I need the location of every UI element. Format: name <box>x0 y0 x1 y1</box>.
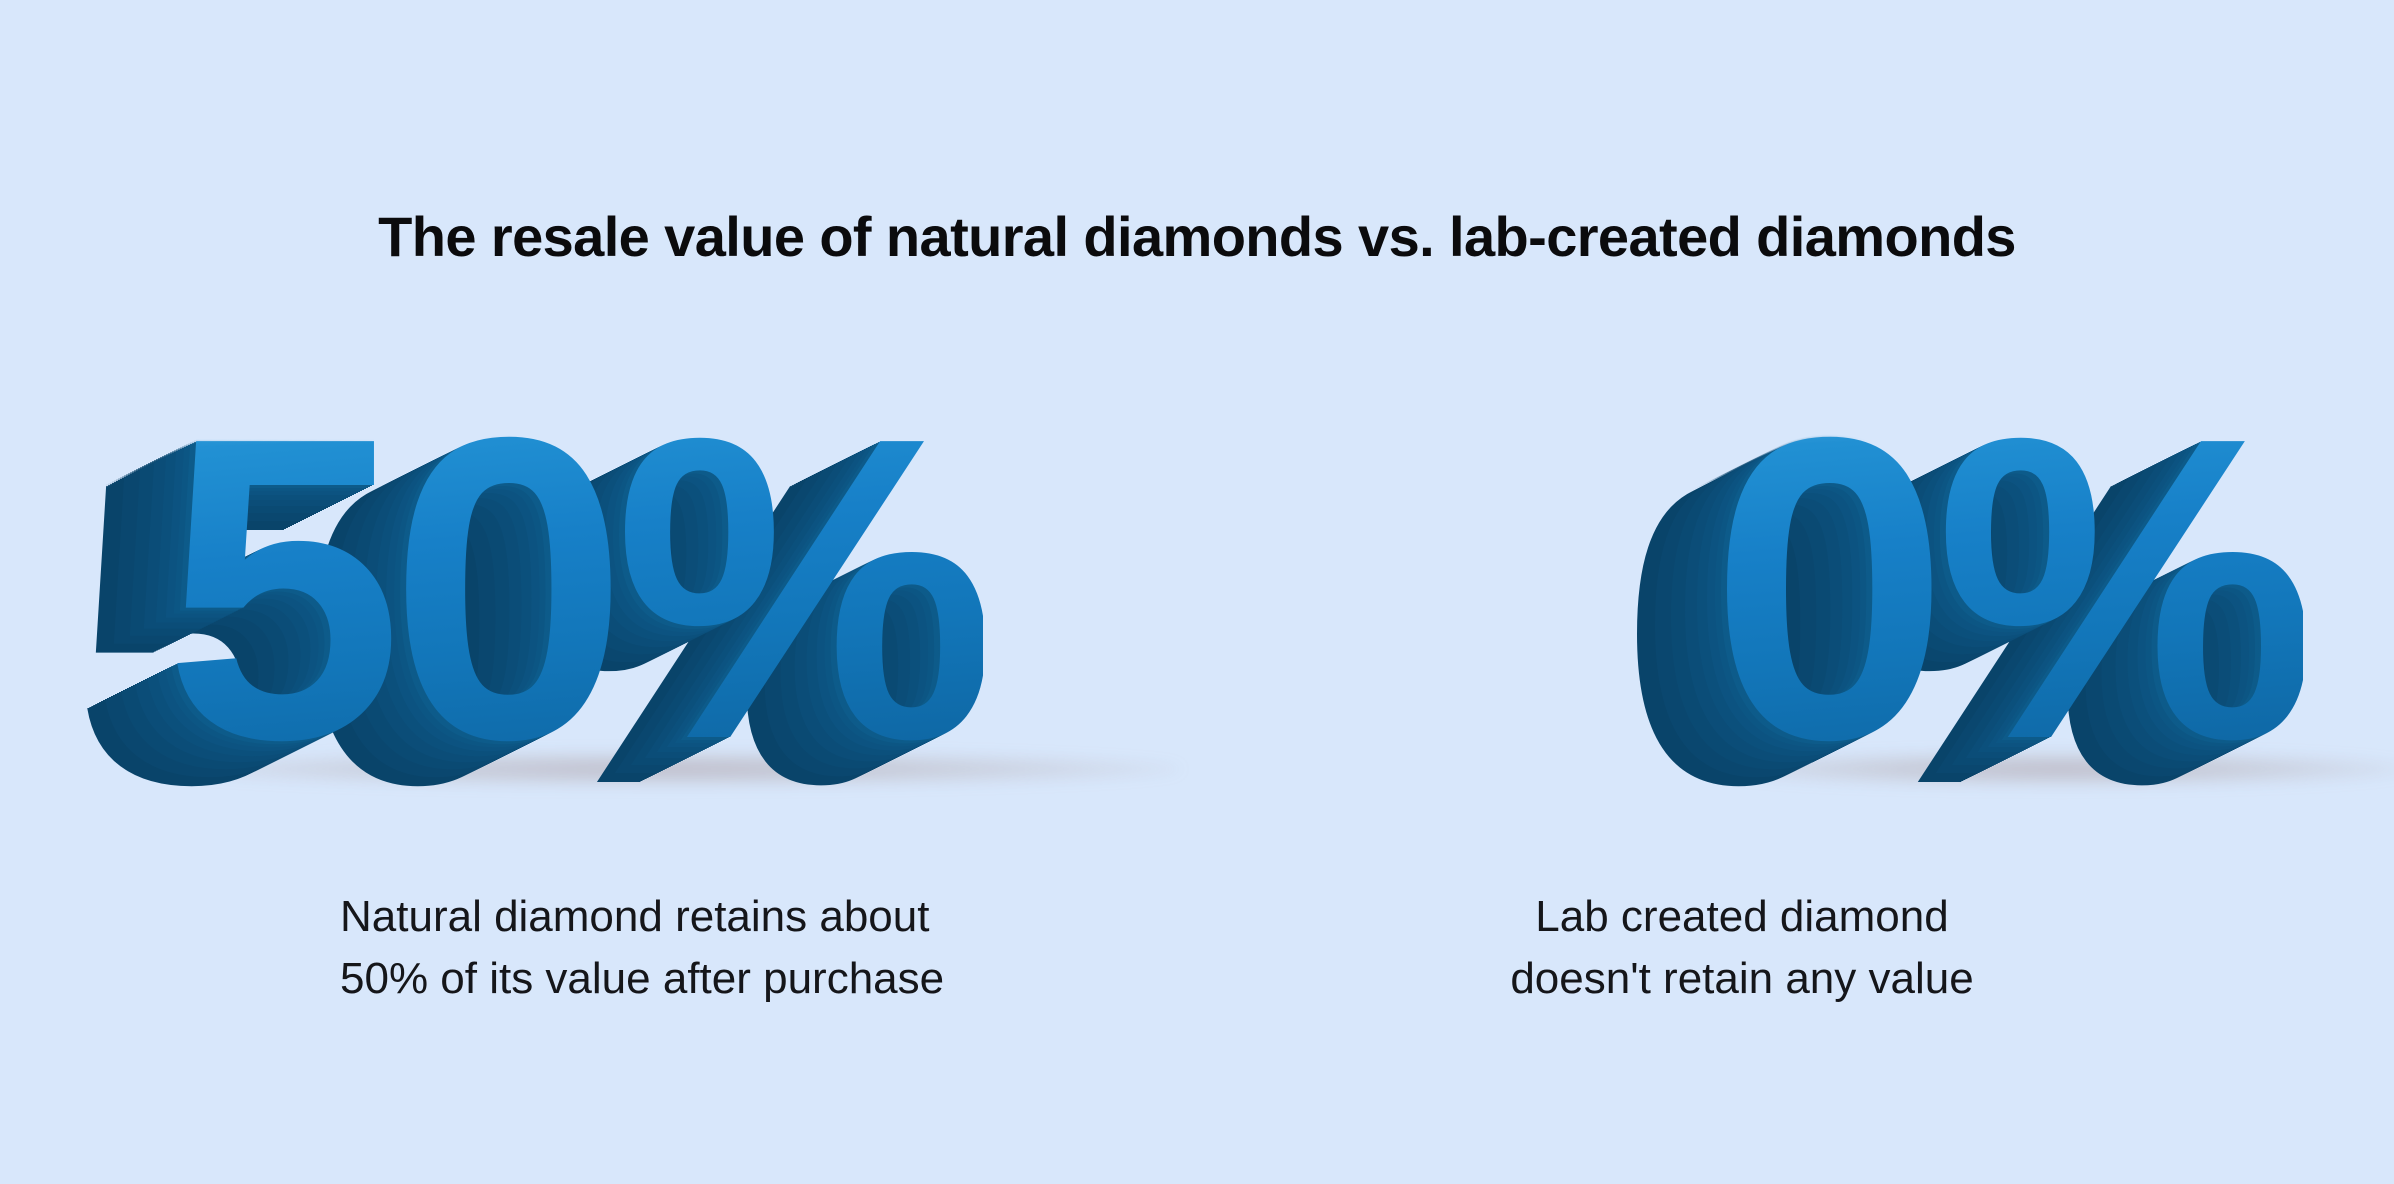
caption-lab-created-diamond: Lab created diamond doesn't retain any v… <box>1340 886 2394 1011</box>
figure-stage-lab: 0% <box>1340 360 2394 800</box>
caption-natural-diamond: Natural diamond retains about 50% of its… <box>340 886 944 1011</box>
page-title: The resale value of natural diamonds vs.… <box>0 206 2394 269</box>
figure-stage-natural: 50% <box>150 360 1340 800</box>
value-figure-lab-created: 0% <box>1710 379 2303 800</box>
panel-natural-diamond: 50% Natural diamond retains about 50% of… <box>0 360 1340 1060</box>
infographic-canvas: The resale value of natural diamonds vs.… <box>0 0 2394 1184</box>
panel-lab-created-diamond: 0% Lab created diamond doesn't retain an… <box>1340 360 2394 1060</box>
value-figure-natural: 50% <box>164 379 983 800</box>
comparison-panels: 50% Natural diamond retains about 50% of… <box>0 360 2394 1060</box>
